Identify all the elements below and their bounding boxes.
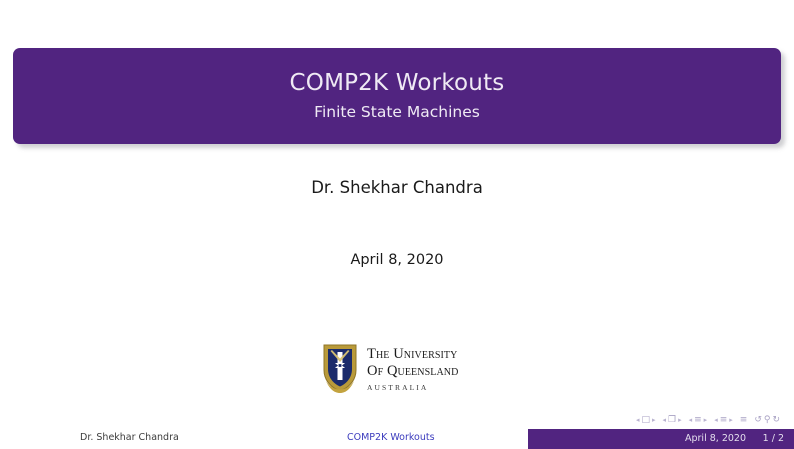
prev-subsection-icon[interactable]: ◂	[689, 417, 693, 424]
next-frame-icon[interactable]: ▸	[678, 417, 682, 424]
prev-slide-icon[interactable]: ◂	[636, 417, 640, 424]
beamer-title-slide: COMP2K Workouts Finite State Machines Dr…	[0, 0, 794, 449]
search-icon[interactable]: ⚲	[764, 416, 771, 425]
uq-logo-line-1: The University	[367, 346, 458, 362]
next-slide-icon[interactable]: ▸	[652, 417, 656, 424]
slide-footer: Dr. Shekhar Chandra COMP2K Workouts Apri…	[0, 429, 794, 449]
title-block: COMP2K Workouts Finite State Machines	[13, 48, 781, 144]
footer-author: Dr. Shekhar Chandra	[80, 432, 179, 443]
uq-logo: The University Of Queensland AUSTRALIA	[321, 339, 481, 397]
nav-group-frame[interactable]: ◂ ❐ ▸	[663, 416, 682, 425]
subsection-icon[interactable]: ≡	[694, 416, 702, 425]
author-name: Dr. Shekhar Chandra	[0, 178, 794, 197]
beamer-navigation-symbols[interactable]: ◂ □ ▸ ◂ ❐ ▸ ◂ ≡ ▸ ◂ ≡ ▸ ≡ ↺ ⚲ ↻	[636, 413, 780, 428]
uq-logo-line-3: AUSTRALIA	[367, 383, 458, 392]
next-subsection-icon[interactable]: ▸	[704, 417, 708, 424]
section-icon[interactable]: ≡	[720, 416, 728, 425]
prev-section-icon[interactable]: ◂	[714, 417, 718, 424]
footer-title[interactable]: COMP2K Workouts	[347, 432, 435, 443]
current-slide-icon[interactable]: □	[641, 416, 650, 425]
document-icon[interactable]: ≡	[740, 416, 748, 425]
nav-group-document[interactable]: ≡	[740, 416, 748, 425]
nav-group-history[interactable]: ↺ ⚲ ↻	[754, 416, 780, 425]
nav-group-slide[interactable]: ◂ □ ▸	[636, 416, 656, 425]
footer-date: April 8, 2020	[685, 433, 746, 444]
page-subtitle: Finite State Machines	[314, 104, 480, 121]
uq-logo-wordmark: The University Of Queensland AUSTRALIA	[367, 344, 458, 391]
footer-page-number: 1 / 2	[763, 433, 784, 444]
uq-logo-line-2: Of Queensland	[367, 363, 458, 379]
frame-icon[interactable]: ❐	[668, 416, 676, 425]
presentation-date: April 8, 2020	[0, 252, 794, 268]
uq-crest-icon	[321, 343, 359, 393]
forward-icon[interactable]: ↻	[772, 416, 780, 425]
back-icon[interactable]: ↺	[754, 416, 762, 425]
page-title: COMP2K Workouts	[290, 71, 505, 96]
footer-purple-bar: April 8, 2020 1 / 2	[528, 429, 794, 449]
nav-group-subsection[interactable]: ◂ ≡ ▸	[689, 416, 708, 425]
prev-frame-icon[interactable]: ◂	[663, 417, 667, 424]
nav-group-section[interactable]: ◂ ≡ ▸	[714, 416, 733, 425]
next-section-icon[interactable]: ▸	[729, 417, 733, 424]
